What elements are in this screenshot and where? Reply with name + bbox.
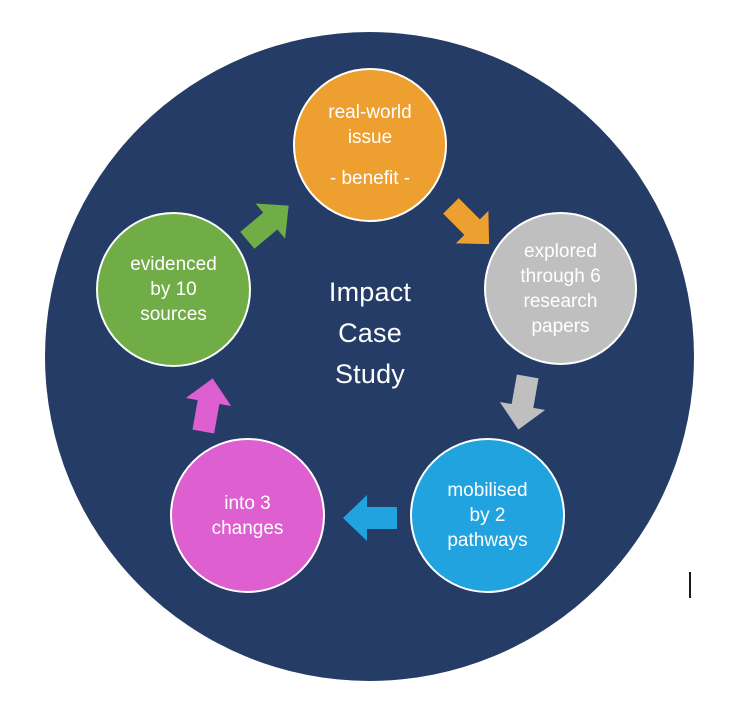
node-explored-line-3: research xyxy=(520,289,600,314)
node-explored-research[interactable]: explored through 6 research papers xyxy=(484,212,637,365)
node-real-world-issue-text: real-world issue - benefit - xyxy=(328,100,411,191)
node-evidenced-line-2: by 10 xyxy=(130,277,217,302)
text-cursor-caret xyxy=(689,572,691,598)
center-title-line-3: Study xyxy=(265,354,475,395)
node-changes-line-2: changes xyxy=(212,516,284,541)
node-evidenced-line-1: evidenced xyxy=(130,252,217,277)
node-changes-line-1: into 3 xyxy=(212,491,284,516)
node-issue-line-2: issue xyxy=(328,125,411,150)
node-issue-line-1: real-world xyxy=(328,100,411,125)
node-evidenced-line-3: sources xyxy=(130,302,217,327)
node-mobilised-line-1: mobilised xyxy=(447,478,527,503)
node-evidenced-sources-text: evidenced by 10 sources xyxy=(130,252,217,327)
node-evidenced-sources[interactable]: evidenced by 10 sources xyxy=(96,212,251,367)
center-title: Impact Case Study xyxy=(265,272,475,395)
node-mobilised-line-2: by 2 xyxy=(447,503,527,528)
node-into-changes-text: into 3 changes xyxy=(212,491,284,541)
node-issue-line-3: - benefit - xyxy=(328,166,411,191)
node-real-world-issue[interactable]: real-world issue - benefit - xyxy=(293,68,447,222)
node-mobilised-line-3: pathways xyxy=(447,528,527,553)
node-explored-line-1: explored xyxy=(520,239,600,264)
node-explored-line-4: papers xyxy=(520,314,600,339)
node-mobilised-pathways[interactable]: mobilised by 2 pathways xyxy=(410,438,565,593)
center-title-line-2: Case xyxy=(265,313,475,354)
diagram-canvas: Impact Case Study real-world issue - ben… xyxy=(0,0,733,709)
center-title-line-1: Impact xyxy=(265,272,475,313)
node-into-changes[interactable]: into 3 changes xyxy=(170,438,325,593)
node-explored-research-text: explored through 6 research papers xyxy=(520,239,600,339)
node-explored-line-2: through 6 xyxy=(520,264,600,289)
node-mobilised-pathways-text: mobilised by 2 pathways xyxy=(447,478,527,553)
